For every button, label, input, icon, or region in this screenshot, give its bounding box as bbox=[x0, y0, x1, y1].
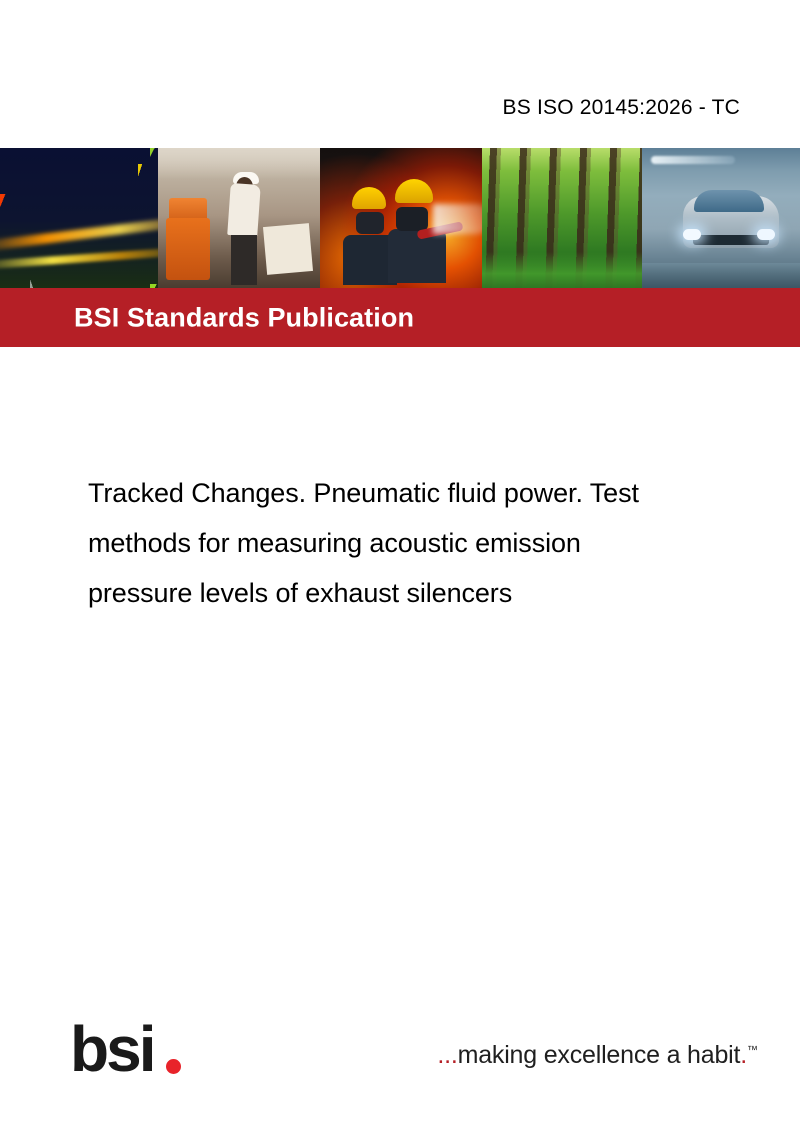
tagline-text: making excellence a habit bbox=[458, 1041, 741, 1069]
firefighter-face-right bbox=[396, 207, 428, 231]
car-windshield bbox=[694, 190, 764, 212]
image-panel-night-traffic-light-trails bbox=[0, 148, 158, 288]
bsi-tagline: ...making excellence a habit.™ bbox=[437, 1041, 758, 1070]
standards-publication-banner: BSI Standards Publication bbox=[0, 288, 800, 347]
banner-title-label: BSI Standards Publication bbox=[74, 302, 414, 333]
document-cover-page: BS ISO 20145:2026 - TC bbox=[0, 0, 800, 1132]
car-headlight-right bbox=[757, 229, 775, 240]
firefighter-helmet-right bbox=[395, 179, 433, 203]
factory-floor bbox=[642, 263, 800, 288]
page-title: Tracked Changes. Pneumatic fluid power. … bbox=[88, 468, 648, 618]
bsi-logo-dot-icon bbox=[166, 1059, 181, 1074]
warehouse-box bbox=[263, 223, 313, 275]
image-panel-forest-trees bbox=[482, 148, 642, 288]
worker-shirt bbox=[227, 183, 261, 237]
trademark-icon: ™ bbox=[747, 1045, 758, 1057]
factory-ceiling-light bbox=[651, 156, 735, 164]
image-panel-car-production-line bbox=[642, 148, 800, 288]
warehouse-crate bbox=[166, 218, 210, 280]
document-reference-code: BS ISO 20145:2026 - TC bbox=[503, 96, 740, 120]
image-panel-firefighters-flames bbox=[320, 148, 482, 288]
tagline-ellipsis: ... bbox=[437, 1041, 457, 1069]
worker-legs bbox=[231, 235, 257, 285]
cover-image-strip bbox=[0, 148, 800, 288]
firefighter-face-left bbox=[356, 212, 384, 234]
car-headlight-left bbox=[683, 229, 701, 240]
water-spray bbox=[433, 204, 482, 234]
tagline-period: . bbox=[740, 1041, 747, 1069]
firefighter-body-right bbox=[388, 229, 446, 283]
bsi-logo: bsi bbox=[70, 1018, 190, 1080]
image-panel-warehouse-worker bbox=[158, 148, 320, 288]
firefighter-helmet-left bbox=[352, 187, 386, 209]
